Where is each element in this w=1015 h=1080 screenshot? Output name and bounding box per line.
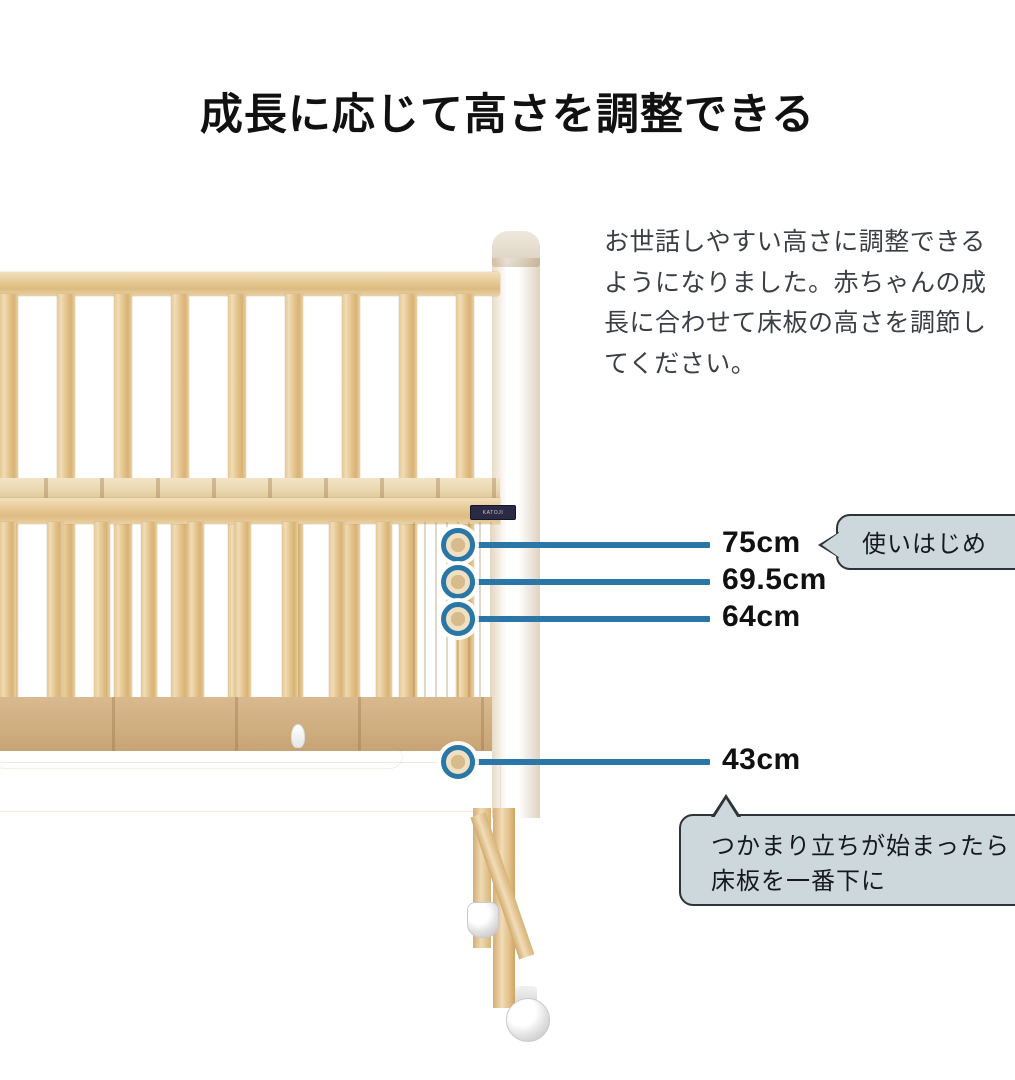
leader-line-1 <box>470 542 710 548</box>
corner-post-shade <box>492 258 540 818</box>
leader-line-2 <box>470 579 710 585</box>
adjust-hole-marker-1[interactable] <box>441 528 475 562</box>
callout-lowest: つかまり立ちが始まったら 床板を一番下に <box>679 814 1015 906</box>
platform-front-beam <box>0 498 500 524</box>
callout-start: 使いはじめ <box>836 514 1015 570</box>
floor-knob <box>291 724 305 748</box>
leader-line-3 <box>470 616 710 622</box>
adjust-hole-marker-2[interactable] <box>441 565 475 599</box>
dimension-label-69-5cm: 69.5cm <box>722 563 827 597</box>
bottom-beam <box>0 763 500 811</box>
caster-outer <box>506 998 550 1042</box>
adjust-hole-marker-4[interactable] <box>441 745 475 779</box>
dimension-label-75cm: 75cm <box>722 526 801 560</box>
caster-inner <box>467 902 499 938</box>
top-rail <box>0 272 500 296</box>
callout-lowest-tail-fill <box>714 799 738 818</box>
dimension-label-43cm: 43cm <box>722 743 801 777</box>
adjust-hole-marker-3[interactable] <box>441 602 475 636</box>
page-root: 成長に応じて高さを調整できる お世話しやすい高さに調整できるようになりました。赤… <box>0 0 1015 1080</box>
dimension-label-64cm: 64cm <box>722 600 801 634</box>
floor-board-seams <box>0 697 492 751</box>
callout-start-text: 使いはじめ <box>862 531 987 558</box>
callout-start-tail-fill <box>822 532 840 558</box>
brand-badge: KATOJI <box>470 505 516 520</box>
platform-slat-gaps <box>0 478 500 500</box>
leader-line-4 <box>470 759 710 765</box>
callout-lowest-line1: つかまり立ちが始まったら <box>711 830 1015 865</box>
product-photo: KATOJI <box>0 230 580 1080</box>
description-text: お世話しやすい高さに調整できるようになりました。赤ちゃんの成長に合わせて床板の高… <box>604 222 1004 384</box>
callout-lowest-line2: 床板を一番下に <box>711 865 1015 900</box>
page-title: 成長に応じて高さを調整できる <box>0 92 1015 139</box>
